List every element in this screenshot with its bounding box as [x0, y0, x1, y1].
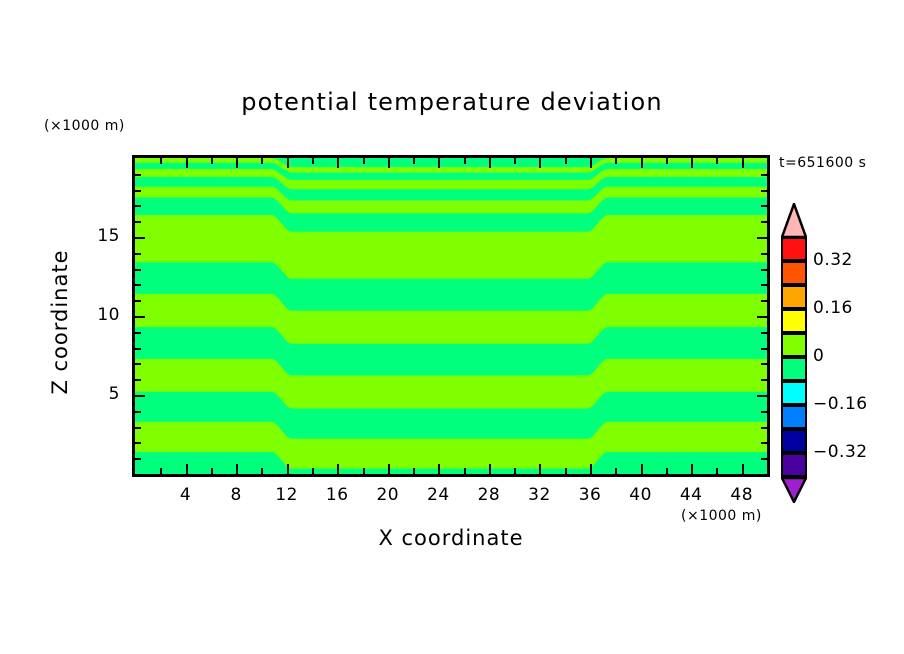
x-tick-26: [464, 468, 466, 474]
y-tick-right-1: [761, 458, 767, 460]
x-tick-label-16: 16: [317, 485, 357, 505]
time-annotation: t=651600 s: [779, 155, 866, 171]
x-tick-4: [186, 464, 188, 474]
x-tick-label-36: 36: [570, 485, 610, 505]
y-tick-16: [135, 221, 141, 223]
y-tick-right-3: [761, 427, 767, 429]
y-tick-right-2: [761, 442, 767, 444]
x-tick-top-40: [641, 158, 643, 168]
y-tick-label-5: 5: [80, 384, 120, 404]
x-tick-top-42: [666, 158, 668, 164]
x-tick-12: [287, 464, 289, 474]
x-tick-46: [716, 468, 718, 474]
x-tick-label-4: 4: [166, 485, 206, 505]
y-tick-2: [135, 442, 141, 444]
colorbar: 0.320.160−0.16−0.32: [781, 203, 807, 493]
x-tick-top-6: [211, 158, 213, 164]
x-axis-units-label: (×1000 m): [681, 508, 762, 524]
y-tick-right-13: [761, 269, 767, 271]
colorbar-segment-1: [781, 261, 807, 285]
x-tick-top-38: [615, 158, 617, 164]
x-tick-36: [590, 464, 592, 474]
y-tick-right-7: [761, 363, 767, 365]
x-tick-32: [539, 464, 541, 474]
x-tick-top-12: [287, 158, 289, 168]
x-tick-label-40: 40: [621, 485, 661, 505]
plot-area: [132, 155, 770, 477]
y-tick-14: [135, 253, 141, 255]
colorbar-segment-4: [781, 333, 807, 357]
colorbar-segment-8: [781, 429, 807, 453]
x-tick-44: [691, 464, 693, 474]
y-tick-9: [135, 332, 141, 334]
y-tick-15: [135, 237, 145, 239]
x-tick-30: [514, 468, 516, 474]
x-tick-label-32: 32: [519, 485, 559, 505]
y-tick-13: [135, 269, 141, 271]
x-tick-top-32: [539, 158, 541, 168]
x-tick-label-20: 20: [368, 485, 408, 505]
x-tick-14: [312, 468, 314, 474]
y-tick-right-6: [761, 379, 767, 381]
y-tick-right-14: [761, 253, 767, 255]
x-tick-label-44: 44: [671, 485, 711, 505]
x-tick-top-14: [312, 158, 314, 164]
x-tick-48: [742, 464, 744, 474]
x-tick-label-24: 24: [418, 485, 458, 505]
x-tick-top-24: [438, 158, 440, 168]
colorbar-label-3: −0.16: [813, 394, 868, 414]
y-tick-7: [135, 363, 141, 365]
colorbar-segment-3: [781, 309, 807, 333]
x-tick-22: [413, 468, 415, 474]
x-tick-top-16: [337, 158, 339, 168]
x-tick-6: [211, 468, 213, 474]
y-tick-right-10: [757, 316, 767, 318]
y-axis-title: Z coordinate: [48, 232, 72, 412]
x-tick-38: [615, 468, 617, 474]
y-axis-units-label: (×1000 m): [44, 118, 125, 134]
y-tick-17: [135, 205, 141, 207]
x-tick-top-4: [186, 158, 188, 168]
x-tick-top-48: [742, 158, 744, 168]
x-tick-18: [363, 468, 365, 474]
x-tick-24: [438, 464, 440, 474]
x-tick-top-30: [514, 158, 516, 164]
colorbar-segment-6: [781, 381, 807, 405]
y-tick-3: [135, 427, 141, 429]
y-tick-10: [135, 316, 145, 318]
colorbar-segment-9: [781, 453, 807, 477]
y-tick-right-4: [761, 411, 767, 413]
x-tick-label-48: 48: [722, 485, 762, 505]
y-tick-5: [135, 395, 145, 397]
x-tick-label-12: 12: [267, 485, 307, 505]
y-tick-6: [135, 379, 141, 381]
x-tick-10: [261, 468, 263, 474]
colorbar-bottom-arrow-cap: [781, 477, 807, 503]
y-tick-11: [135, 300, 141, 302]
x-tick-top-26: [464, 158, 466, 164]
y-tick-label-15: 15: [80, 226, 120, 246]
x-tick-42: [666, 468, 668, 474]
x-tick-34: [565, 468, 567, 474]
y-tick-right-11: [761, 300, 767, 302]
y-tick-right-19: [761, 174, 767, 176]
colorbar-top-arrow-cap: [781, 203, 807, 237]
y-tick-18: [135, 190, 141, 192]
colorbar-label-2: 0: [813, 346, 824, 366]
x-tick-20: [388, 464, 390, 474]
y-tick-19: [135, 174, 141, 176]
y-tick-right-5: [757, 395, 767, 397]
y-tick-label-10: 10: [80, 305, 120, 325]
contour-plot-figure: potential temperature deviation (×1000 m…: [0, 0, 904, 654]
x-tick-top-8: [236, 158, 238, 168]
y-tick-right-15: [757, 237, 767, 239]
x-tick-top-44: [691, 158, 693, 168]
colorbar-segment-2: [781, 285, 807, 309]
x-tick-top-18: [363, 158, 365, 164]
x-tick-label-28: 28: [469, 485, 509, 505]
colorbar-label-0: 0.32: [813, 250, 853, 270]
y-tick-1: [135, 458, 141, 460]
x-tick-label-8: 8: [216, 485, 256, 505]
x-tick-top-36: [590, 158, 592, 168]
contour-field: [135, 158, 767, 474]
y-tick-right-17: [761, 205, 767, 207]
page-title: potential temperature deviation: [0, 88, 904, 116]
x-tick-top-10: [261, 158, 263, 164]
x-axis-title: X coordinate: [132, 526, 770, 550]
x-tick-2: [160, 468, 162, 474]
x-tick-top-22: [413, 158, 415, 164]
colorbar-label-4: −0.32: [813, 442, 868, 462]
x-tick-40: [641, 464, 643, 474]
y-tick-right-16: [761, 221, 767, 223]
y-tick-right-8: [761, 348, 767, 350]
x-tick-28: [489, 464, 491, 474]
y-tick-8: [135, 348, 141, 350]
colorbar-segment-7: [781, 405, 807, 429]
y-tick-right-12: [761, 284, 767, 286]
x-tick-top-34: [565, 158, 567, 164]
y-tick-12: [135, 284, 141, 286]
colorbar-segment-5: [781, 357, 807, 381]
x-tick-16: [337, 464, 339, 474]
x-tick-top-28: [489, 158, 491, 168]
y-tick-right-18: [761, 190, 767, 192]
y-tick-right-9: [761, 332, 767, 334]
x-tick-top-20: [388, 158, 390, 168]
x-tick-top-46: [716, 158, 718, 164]
x-tick-top-2: [160, 158, 162, 164]
x-tick-8: [236, 464, 238, 474]
colorbar-segment-0: [781, 237, 807, 261]
colorbar-label-1: 0.16: [813, 298, 853, 318]
y-tick-4: [135, 411, 141, 413]
